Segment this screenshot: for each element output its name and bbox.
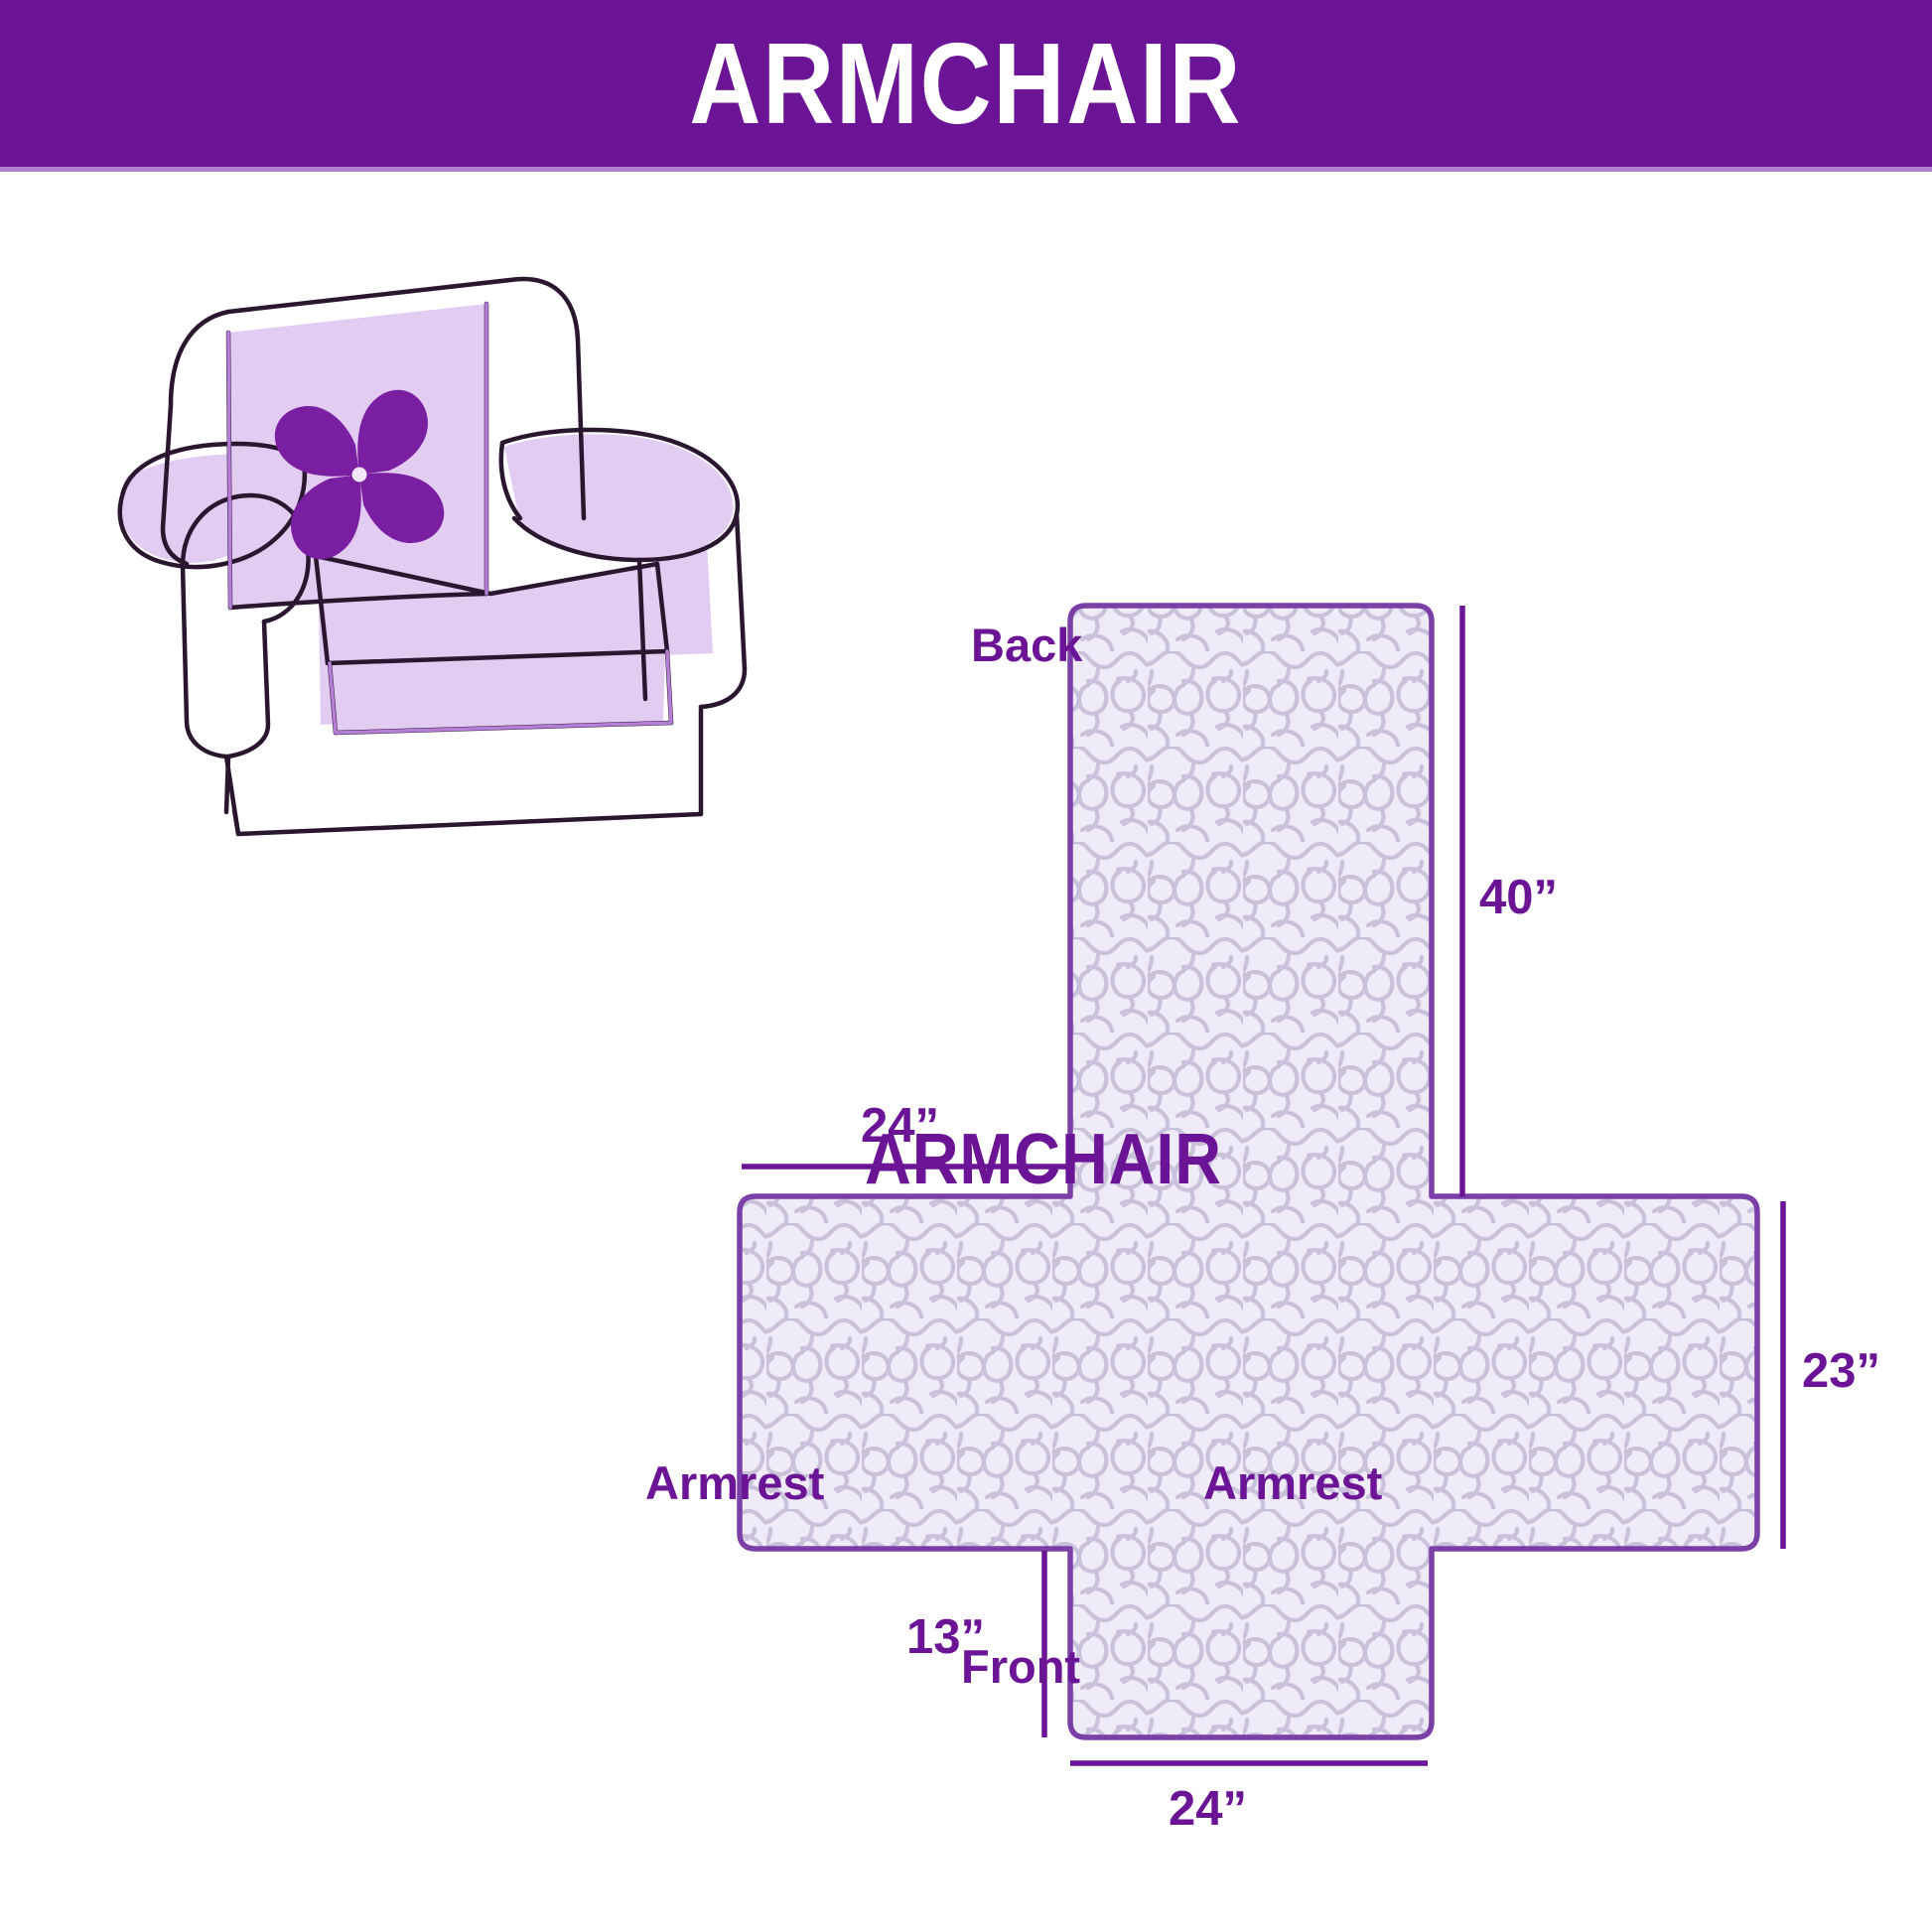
- header-banner-underline: [0, 167, 1932, 172]
- slipcover-pattern-diagram: Back ARMCHAIR Armrest Armrest Front 40” …: [576, 556, 1932, 1876]
- dimension-label-24-bottom: 24”: [1169, 1785, 1247, 1834]
- dimension-label-40: 40”: [1479, 874, 1558, 922]
- header-banner: ARMCHAIR: [0, 0, 1932, 167]
- product-dimension-diagram: ARMCHAIR: [0, 0, 1932, 1932]
- panel-label-armrest-right: Armrest: [1203, 1459, 1382, 1506]
- dimension-label-24-top: 24”: [861, 1102, 939, 1151]
- panel-label-armrest-left: Armrest: [645, 1459, 824, 1506]
- dimension-label-13: 13”: [906, 1613, 985, 1662]
- panel-label-back: Back: [971, 621, 1082, 668]
- page-title: ARMCHAIR: [690, 26, 1243, 141]
- dimension-label-23: 23”: [1802, 1347, 1880, 1396]
